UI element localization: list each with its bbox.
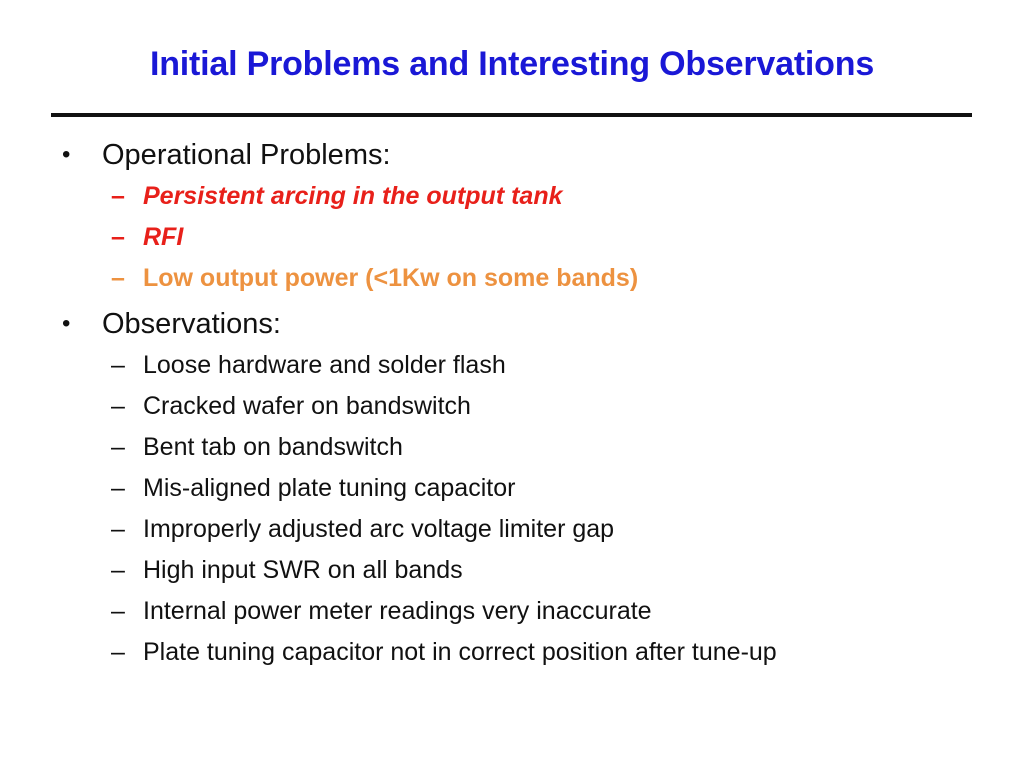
dash-marker-icon: – <box>111 550 135 591</box>
list-item: – Cracked wafer on bandswitch <box>0 386 1024 427</box>
dash-marker-icon: – <box>111 345 135 386</box>
list-item: – High input SWR on all bands <box>0 550 1024 591</box>
dash-marker-icon: – <box>111 509 135 550</box>
list-item: – RFI <box>0 217 1024 258</box>
list-item: – Loose hardware and solder flash <box>0 345 1024 386</box>
list-item-label: Improperly adjusted arc voltage limiter … <box>143 515 614 543</box>
title-divider <box>51 113 972 117</box>
section-operational-problems: • Operational Problems: – Persistent arc… <box>0 134 1024 299</box>
bullet-dot-icon: • <box>62 303 82 345</box>
list-item-label: Loose hardware and solder flash <box>143 351 506 379</box>
list-item-label: RFI <box>143 223 183 251</box>
bullet-dot-icon: • <box>62 134 82 176</box>
section-heading-observations: • Observations: <box>0 303 1024 345</box>
slide-body: • Operational Problems: – Persistent arc… <box>0 134 1024 673</box>
list-item-label: Low output power (<1Kw on some bands) <box>143 264 638 292</box>
list-item: – Persistent arcing in the output tank <box>0 176 1024 217</box>
list-item-label: Mis-aligned plate tuning capacitor <box>143 474 515 502</box>
dash-marker-icon: – <box>111 591 135 632</box>
section-heading-label: Observations: <box>102 308 281 340</box>
list-item: – Improperly adjusted arc voltage limite… <box>0 509 1024 550</box>
list-item: – Plate tuning capacitor not in correct … <box>0 632 1024 673</box>
page-title: Initial Problems and Interesting Observa… <box>0 42 1024 86</box>
slide-canvas: Initial Problems and Interesting Observa… <box>0 0 1024 768</box>
list-item-label: Cracked wafer on bandswitch <box>143 392 471 420</box>
dash-marker-icon: – <box>111 427 135 468</box>
dash-marker-icon: – <box>111 258 135 299</box>
list-item-label: High input SWR on all bands <box>143 556 463 584</box>
list-item: – Bent tab on bandswitch <box>0 427 1024 468</box>
list-item-label: Internal power meter readings very inacc… <box>143 597 652 625</box>
list-item-label: Persistent arcing in the output tank <box>143 182 563 210</box>
section-heading-label: Operational Problems: <box>102 139 391 171</box>
section-heading-operational-problems: • Operational Problems: <box>0 134 1024 176</box>
list-item: – Internal power meter readings very ina… <box>0 591 1024 632</box>
dash-marker-icon: – <box>111 468 135 509</box>
dash-marker-icon: – <box>111 176 135 217</box>
dash-marker-icon: – <box>111 632 135 673</box>
dash-marker-icon: – <box>111 217 135 258</box>
dash-marker-icon: – <box>111 386 135 427</box>
list-item-label: Plate tuning capacitor not in correct po… <box>143 638 777 666</box>
section-observations: • Observations: – Loose hardware and sol… <box>0 303 1024 673</box>
list-item-label: Bent tab on bandswitch <box>143 433 403 461</box>
list-item: – Low output power (<1Kw on some bands) <box>0 258 1024 299</box>
list-item: – Mis-aligned plate tuning capacitor <box>0 468 1024 509</box>
